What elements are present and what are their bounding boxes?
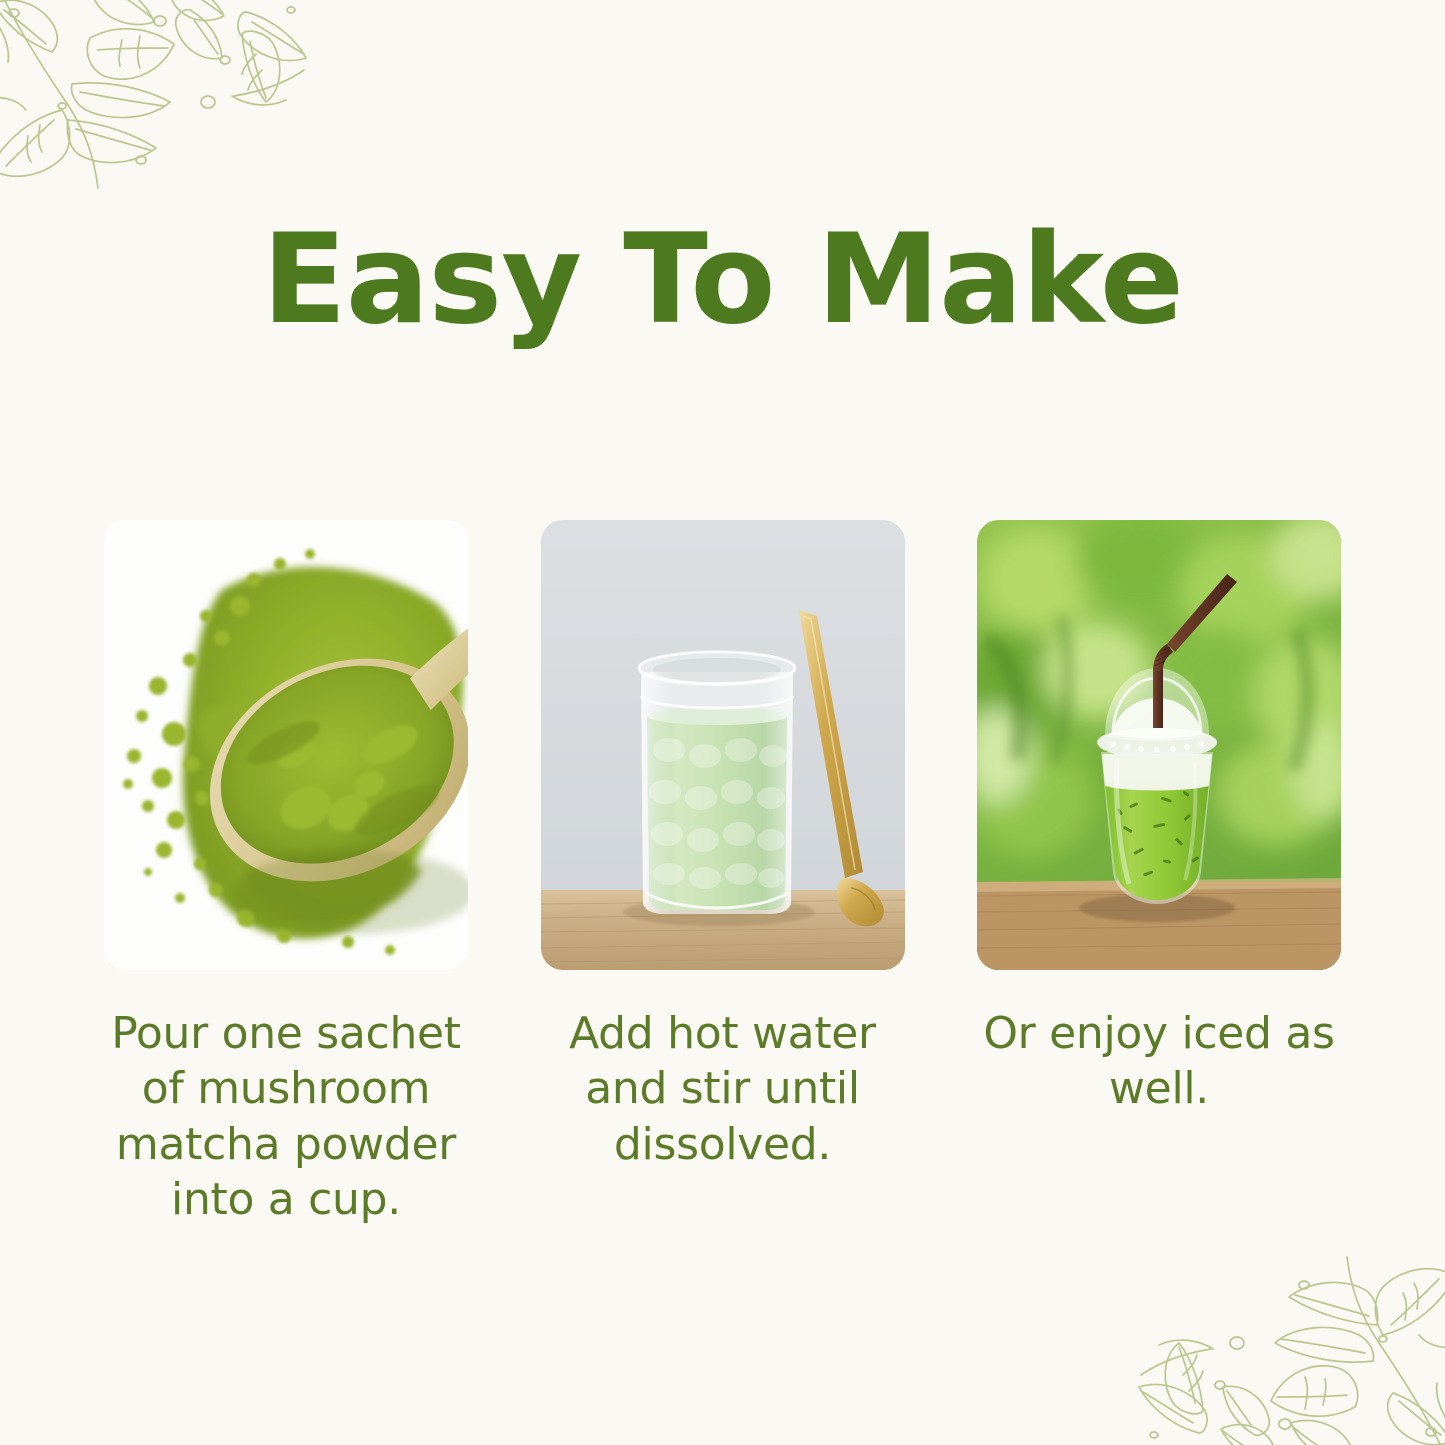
- step-3-caption: Or enjoy iced as well.: [977, 1006, 1341, 1117]
- step-2-caption: Add hot water and stir until dissolved.: [541, 1006, 905, 1172]
- matcha-latte-in-glass-jar-with-gold-spoon-image: [541, 520, 905, 970]
- matcha-powder-with-wooden-spoon-image: [104, 520, 468, 970]
- step-1-caption: Pour one sachet of mushroom matcha powde…: [104, 1006, 468, 1228]
- step-2: Add hot water and stir until dissolved.: [541, 520, 905, 1172]
- step-1: Pour one sachet of mushroom matcha powde…: [104, 520, 468, 1228]
- botanical-leaves-top-left-icon: [0, 0, 324, 242]
- page-title: Easy To Make: [0, 218, 1445, 342]
- step-3: Or enjoy iced as well.: [977, 520, 1341, 1117]
- steps-row: Pour one sachet of mushroom matcha powde…: [104, 520, 1341, 1228]
- infographic-page: Easy To Make: [0, 0, 1445, 1445]
- botanical-leaves-bottom-right-icon: [1121, 1203, 1445, 1445]
- iced-matcha-in-dome-lid-cup-image: [977, 520, 1341, 970]
